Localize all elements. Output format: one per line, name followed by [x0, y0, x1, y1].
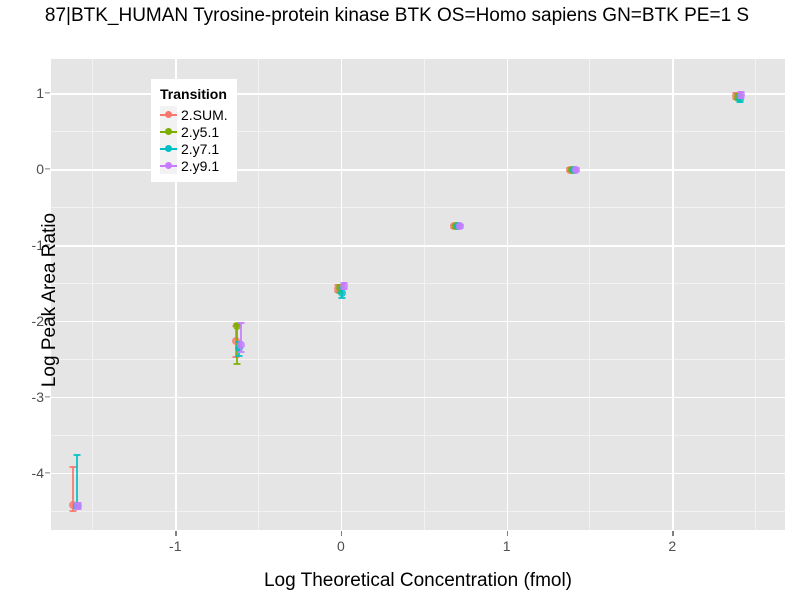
- gridline: [51, 245, 785, 246]
- legend-key-icon: [160, 106, 177, 123]
- gridline: [424, 59, 425, 530]
- y-tick-label: 1: [0, 85, 44, 101]
- legend-item-label: 2.SUM.: [181, 107, 228, 123]
- y-tick-label: -4: [0, 465, 44, 481]
- gridline: [51, 283, 785, 284]
- legend-key-icon: [160, 157, 177, 174]
- gridline: [507, 59, 508, 530]
- x-tick-label: 1: [477, 538, 537, 554]
- x-tick-mark: [672, 531, 673, 536]
- error-bar-cap: [236, 355, 243, 357]
- plot-title: 87|BTK_HUMAN Tyrosine-protein kinase BTK…: [0, 5, 800, 27]
- y-tick-mark: [45, 93, 50, 94]
- legend-item-2-y9-1[interactable]: 2.y9.1: [160, 157, 228, 174]
- legend-title: Transition: [160, 86, 228, 102]
- y-tick-mark: [45, 472, 50, 473]
- legend-item-2-sum-[interactable]: 2.SUM.: [160, 106, 228, 123]
- gridline: [51, 473, 785, 474]
- gridline: [92, 59, 93, 530]
- x-tick-mark: [175, 531, 176, 536]
- y-axis-title: Log Peak Area Ratio: [39, 150, 61, 450]
- y-tick-label: 0: [0, 161, 44, 177]
- gridline: [51, 511, 785, 512]
- gridline: [51, 207, 785, 208]
- data-point[interactable]: [456, 222, 464, 230]
- error-bar-cap: [338, 297, 345, 299]
- data-point[interactable]: [340, 282, 348, 290]
- legend-item-label: 2.y7.1: [181, 141, 219, 157]
- legend-item-label: 2.y5.1: [181, 124, 219, 140]
- data-point[interactable]: [737, 91, 745, 99]
- data-point[interactable]: [572, 166, 580, 174]
- x-tick-label: 2: [642, 538, 702, 554]
- error-bar-cap: [70, 510, 77, 512]
- data-point[interactable]: [237, 341, 245, 349]
- x-tick-label: 0: [311, 538, 371, 554]
- legend-item-2-y7-1[interactable]: 2.y7.1: [160, 140, 228, 157]
- error-bar-cap: [237, 322, 244, 324]
- y-tick-label: -1: [0, 237, 44, 253]
- error-bar-cap: [237, 351, 244, 353]
- legend-item-2-y5-1[interactable]: 2.y5.1: [160, 123, 228, 140]
- y-tick-label: -2: [0, 313, 44, 329]
- x-tick-label: -1: [145, 538, 205, 554]
- error-bar-cap: [73, 454, 80, 456]
- error-bar: [76, 455, 78, 508]
- x-tick-mark: [507, 531, 508, 536]
- legend-items: 2.SUM.2.y5.12.y7.12.y9.1: [160, 106, 228, 174]
- gridline: [51, 321, 785, 322]
- gridline: [51, 359, 785, 360]
- gridline: [755, 59, 756, 530]
- error-bar-cap: [234, 363, 241, 365]
- gridline: [672, 59, 673, 530]
- gridline: [589, 59, 590, 530]
- legend-key-icon: [160, 140, 177, 157]
- plot-title-text: 87|BTK_HUMAN Tyrosine-protein kinase BTK…: [45, 5, 749, 27]
- gridline: [51, 397, 785, 398]
- gridline: [258, 59, 259, 530]
- data-point[interactable]: [74, 502, 82, 510]
- plot-root: 87|BTK_HUMAN Tyrosine-protein kinase BTK…: [0, 0, 800, 600]
- y-tick-label: -3: [0, 389, 44, 405]
- x-tick-mark: [341, 531, 342, 536]
- legend-item-label: 2.y9.1: [181, 158, 219, 174]
- legend: Transition 2.SUM.2.y5.12.y7.12.y9.1: [151, 79, 237, 182]
- legend-key-icon: [160, 123, 177, 140]
- gridline: [51, 435, 785, 436]
- x-axis-title: Log Theoretical Concentration (fmol): [51, 570, 785, 592]
